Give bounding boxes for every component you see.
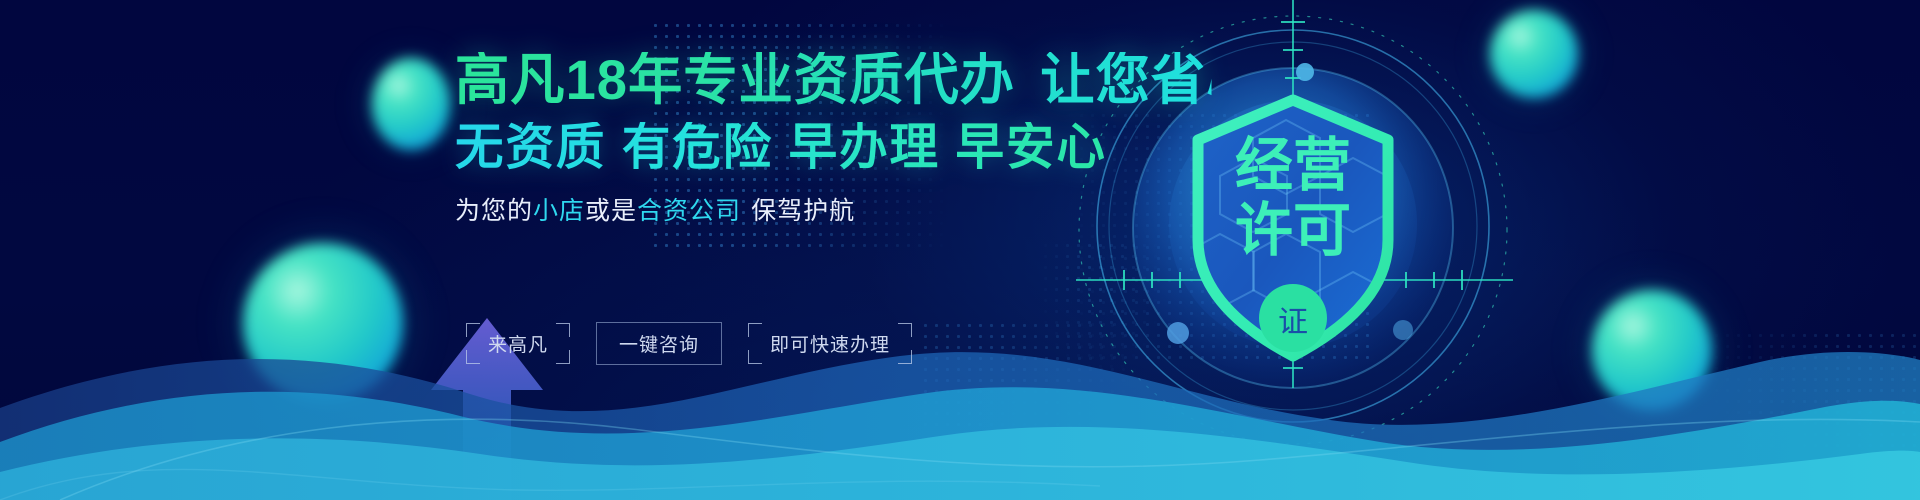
subheadline-item-4: 早安心 [956,119,1107,175]
tag-chip-1-label: 来高凡 [488,335,548,356]
emblem-line-1: 经营 [1235,133,1351,198]
tagline: 为您的小店或是合资公司保驾护航 [455,198,1235,226]
banner-copy: 高凡18年专业资质代办让您省心更省力 无资质有危险早办理早安心 为您的小店或是合… [455,52,1235,226]
tag-chip-3[interactable]: 即可快速办理 [748,323,912,364]
bottom-waves-decor [0,290,1920,500]
headline-part-1: 高凡18年专业资质代办 [455,48,1015,111]
subheadline: 无资质有危险早办理早安心 [455,122,1212,172]
tagline-highlight-1: 小店 [533,197,585,225]
glow-orb-top-left [372,58,450,150]
tag-chip-3-label: 即可快速办理 [770,335,890,356]
subheadline-item-1: 无资质 [455,119,606,175]
subheadline-item-3: 早办理 [789,119,940,175]
headline-part-2: 让您省心更省力 [1040,48,1427,111]
tagline-suffix: 保驾护航 [751,197,855,225]
tag-chip-1[interactable]: 来高凡 [466,323,570,364]
tag-group: 来高凡 一键咨询 即可快速办理 [466,322,912,365]
tagline-prefix: 为您的 [455,197,533,225]
headline: 高凡18年专业资质代办让您省心更省力 [455,52,1212,108]
tagline-middle: 或是 [585,197,637,225]
promo-banner: 经营 许可 证 [0,0,1920,500]
tag-chip-2-label: 一键咨询 [619,335,699,356]
subheadline-item-2: 有危险 [622,119,773,175]
tag-chip-2[interactable]: 一键咨询 [596,322,722,365]
emblem-line-2: 许可 [1235,198,1351,263]
tagline-highlight-2: 合资公司 [637,197,741,225]
